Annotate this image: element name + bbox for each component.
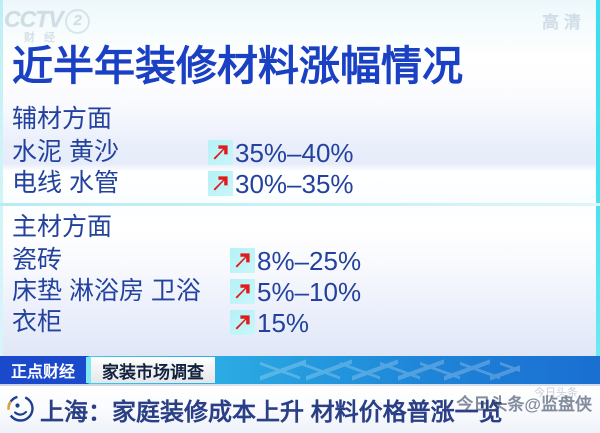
stat-row-label: 衣柜 [12, 310, 62, 335]
stat-row-label: 瓷砖 [12, 248, 62, 273]
stat-row-label: 水泥 黄沙 [12, 140, 119, 165]
section-divider [0, 203, 600, 206]
stat-row-value: 35%–40% [235, 140, 354, 166]
group-title: 辅材方面 [12, 104, 119, 135]
stat-row: 水泥 黄沙 35%–40% [12, 137, 119, 168]
segment-title: 家装市场调查 [91, 357, 215, 383]
stat-row: 电线 水管 30%–35% [12, 168, 119, 199]
group-title: 主材方面 [12, 212, 201, 243]
stat-row-value: 5%–10% [257, 279, 361, 305]
infographic-panel: CCTV2 财经 高清 近半年装修材料涨幅情况 辅材方面 水泥 黄沙 35%–4… [0, 0, 600, 356]
broadcast-screenshot: CCTV2 财经 高清 近半年装修材料涨幅情况 辅材方面 水泥 黄沙 35%–4… [0, 0, 600, 433]
up-arrow-icon [230, 248, 255, 273]
up-arrow-icon [230, 310, 255, 335]
stat-row-value-group: 15% [230, 310, 309, 336]
program-name: 正点财经 [0, 356, 86, 384]
up-arrow-icon [208, 171, 233, 196]
channel-logo-cctv: CCTV [4, 6, 63, 32]
ticker-top-rule [0, 384, 600, 386]
stat-row: 衣柜 15% [12, 307, 201, 338]
channel-logo: CCTV2 财经 [4, 2, 122, 44]
stat-row: 瓷砖 8%–25% [12, 245, 201, 276]
stat-row: 床垫 淋浴房 卫浴 5%–10% [12, 276, 201, 307]
ticker-headline: 上海：家庭装修成本上升 材料价格普涨一览 [40, 392, 503, 427]
stat-row-value: 8%–25% [257, 248, 361, 274]
group-main-materials: 主材方面 瓷砖 8%–25% 床垫 淋浴房 卫浴 [12, 212, 201, 338]
stat-row-value-group: 5%–10% [230, 279, 361, 305]
program-banner: 正点财经 家装市场调查 [0, 356, 600, 384]
watermark-text: 今日头条@监盘侠 [456, 390, 592, 415]
up-arrow-icon [208, 140, 233, 165]
stat-row-value-group: 8%–25% [230, 248, 361, 274]
stat-row-label: 床垫 淋浴房 卫浴 [12, 279, 201, 304]
news-ticker: 上海：家庭装修成本上升 材料价格普涨一览 今日头条 今日头条@监盘侠 [0, 384, 600, 433]
group-auxiliary-materials: 辅材方面 水泥 黄沙 35%–40% 电线 水管 [12, 104, 119, 199]
stat-row-value-group: 35%–40% [208, 140, 354, 166]
stat-row-value: 15% [257, 310, 309, 336]
page-title: 近半年装修材料涨幅情况 [12, 45, 463, 88]
stat-row-value-group: 30%–35% [208, 171, 354, 197]
channel-logo-text: CCTV2 [4, 6, 90, 34]
panel-right-border [596, 0, 600, 356]
ticker-logo-icon [6, 394, 35, 423]
hd-badge: 高清 [542, 8, 586, 33]
channel-logo-number: 2 [65, 9, 90, 34]
stat-row-label: 电线 水管 [12, 171, 119, 196]
panel-left-border [0, 0, 3, 356]
stat-row-value: 30%–35% [235, 171, 354, 197]
up-arrow-icon [230, 279, 255, 304]
banner-pattern [260, 356, 520, 384]
